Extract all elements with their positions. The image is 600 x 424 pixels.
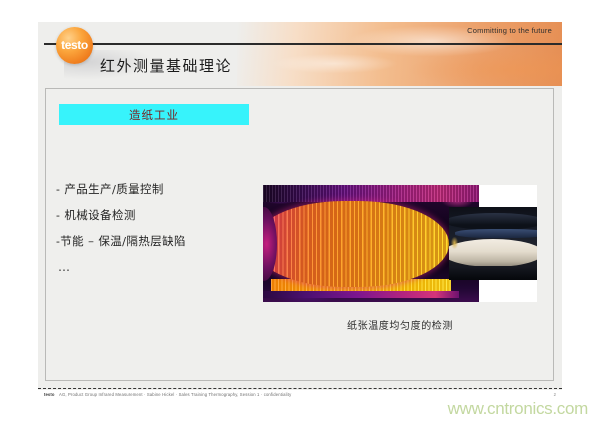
photo-inset-paper-machine xyxy=(449,207,537,280)
page-title: 红外测量基础理论 xyxy=(100,55,232,76)
section-tag-label: 造纸工业 xyxy=(129,107,179,123)
testo-logo: testo xyxy=(56,27,93,64)
footer-page-number: 2 xyxy=(554,392,556,397)
figure-caption: 纸张温度均匀度的检测 xyxy=(263,317,537,332)
photo-highlight xyxy=(451,237,458,249)
list-item-ellipsis: … xyxy=(56,254,266,280)
thermal-bottom-strip xyxy=(263,291,459,298)
site-watermark: www.cntronics.com xyxy=(448,399,588,419)
photo-upper-roller xyxy=(449,213,537,230)
photo-blue-roller xyxy=(455,229,537,238)
header-divider-rule xyxy=(44,43,562,45)
footer-divider xyxy=(38,388,562,389)
footer-text: AG, Product Group Infrared Measurement ·… xyxy=(59,392,291,397)
slide-frame: Committing to the future testo 红外测量基础理论 … xyxy=(38,22,562,390)
bullet-list: - 产品生产/质量控制 - 机械设备检测 -节能 – 保温/隔热层缺陷 … xyxy=(56,176,266,280)
photo-paper-roll xyxy=(449,239,537,267)
thermal-image-paper-roll xyxy=(263,185,479,302)
list-item: - 机械设备检测 xyxy=(56,202,266,228)
slide-header-band: Committing to the future testo 红外测量基础理论 xyxy=(38,22,562,86)
section-tag: 造纸工业 xyxy=(59,104,249,125)
list-item: -节能 – 保温/隔热层缺陷 xyxy=(56,228,266,254)
thermal-top-strip xyxy=(263,185,479,202)
company-tagline: Committing to the future xyxy=(467,26,552,35)
thermal-hot-roll xyxy=(263,201,449,287)
footer-brand: testo xyxy=(44,392,55,397)
photo-base-shadow xyxy=(449,266,537,280)
thermal-figure xyxy=(263,185,537,302)
list-item: - 产品生产/质量控制 xyxy=(56,176,266,202)
slide-content-panel: 造纸工业 - 产品生产/质量控制 - 机械设备检测 -节能 – 保温/隔热层缺陷… xyxy=(45,88,554,381)
testo-logo-text: testo xyxy=(56,38,93,52)
